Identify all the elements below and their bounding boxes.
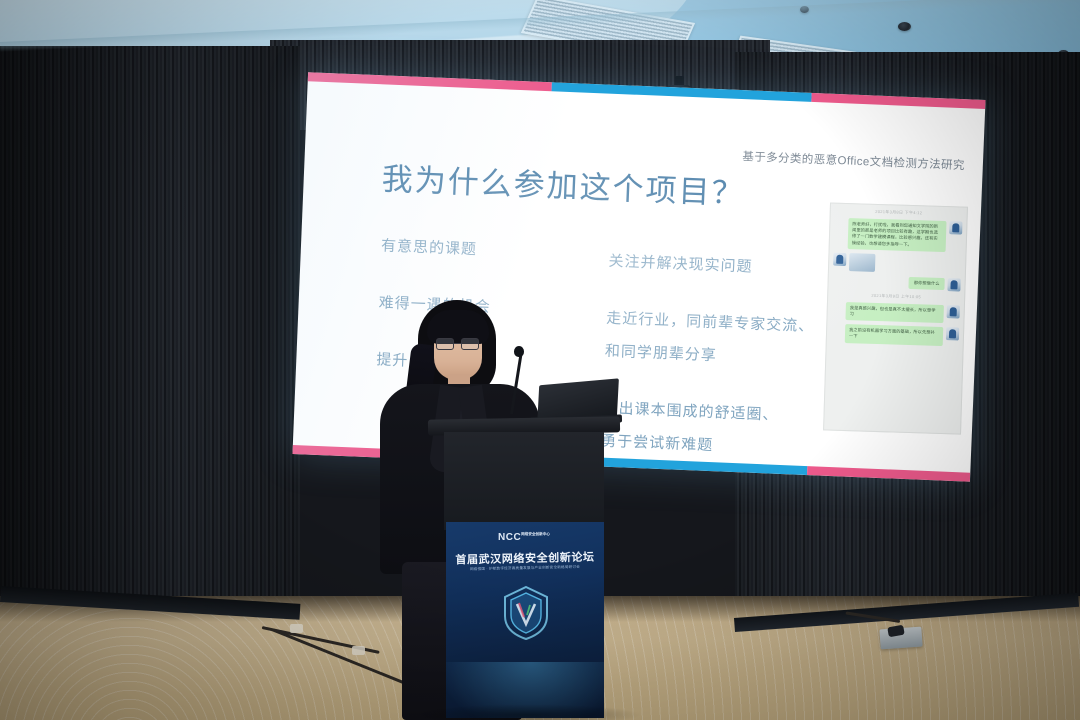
chat-date-label: 2021年3月8日 下午4:12 <box>831 208 967 218</box>
slide-header-text: 基于多分类的恶意Office文档检测方法研究 <box>742 148 965 173</box>
chat-message <box>833 252 961 274</box>
chat-bubble-text: 我是真感兴趣，但也是真不太擅长，所以想学习 <box>845 302 944 323</box>
chat-bubble-text: 我之前没有机器学习方面的基础，所以先想补一下 <box>845 324 944 345</box>
slide-right-column: 关注并解决现实问题 走近行业，同前辈专家交流、 和同学朋辈分享 走出课本围成的舒… <box>601 245 818 466</box>
avatar <box>949 221 962 234</box>
ceiling-spotlight-icon <box>898 22 911 31</box>
slide-title: 我为什么参加这个项目？ <box>381 153 746 213</box>
avatar <box>946 327 959 340</box>
cable-tape <box>352 646 365 655</box>
slide-bullet: 有意思的课题 <box>380 229 493 267</box>
glasses-icon <box>436 338 481 350</box>
microphone-icon <box>514 346 524 357</box>
cable-tape <box>290 624 303 633</box>
ncc-logo: NCC网络安全创新中心 <box>498 532 550 543</box>
ncc-logo-text: NCC <box>498 532 521 543</box>
lectern-branding-panel: NCC网络安全创新中心 首届武汉网络安全创新论坛 网络强国 · 护航数字经济高质… <box>446 522 604 718</box>
slide-bullet: 关注并解决现实问题 <box>608 245 817 287</box>
slide-bullet-line: 关注并解决现实问题 <box>608 245 817 287</box>
chat-message: 陈老师好，打扰啦，我看到您通知文学院的新闻里的那是老师的项目比较有趣，这学期也选… <box>834 218 963 253</box>
lectern-shadow <box>412 704 642 720</box>
slide-bullet: 走出课本围成的舒适圈、 勇于尝试新难题 <box>601 392 812 466</box>
chat-screenshot: 2021年3月8日 下午4:12 陈老师好，打扰啦，我看到您通知文学院的新闻里的… <box>823 202 968 434</box>
chat-date-label: 2021年3月9日 上午10:05 <box>828 291 964 301</box>
avatar <box>833 252 846 265</box>
chat-bubble-image <box>849 253 876 272</box>
shield-icon <box>500 584 552 642</box>
avatar <box>947 305 960 318</box>
chat-bubble-text: 陈老师好，打扰啦，我看到您通知文学院的新闻里的那是老师的项目比较有趣，这学期也选… <box>848 218 947 252</box>
ncc-logo-sub: 网络安全创新中心 <box>521 532 550 537</box>
lectern-body <box>444 432 604 530</box>
chat-message: 那你想做什么 <box>832 274 960 291</box>
chat-bubble-text: 那你想做什么 <box>909 277 945 290</box>
chat-message: 我之前没有机器学习方面的基础，所以先想补一下 <box>831 324 960 346</box>
avatar <box>947 278 960 291</box>
chat-message: 我是真感兴趣，但也是真不太擅长，所以想学习 <box>831 301 960 323</box>
conference-room-photo: 基于多分类的恶意Office文档检测方法研究 我为什么参加这个项目？ 有意思的课… <box>0 0 1080 720</box>
slide-bullet: 走近行业，同前辈专家交流、 和同学朋辈分享 <box>604 302 815 376</box>
lectern: NCC网络安全创新中心 首届武汉网络安全创新论坛 网络强国 · 护航数字经济高质… <box>438 418 610 720</box>
